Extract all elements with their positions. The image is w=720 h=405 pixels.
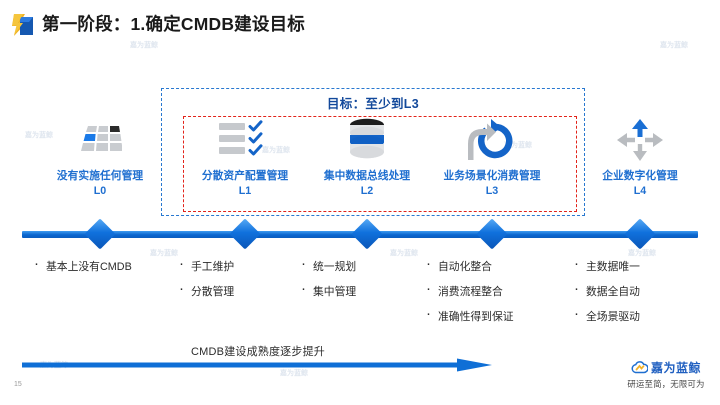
footer-logo: 嘉为蓝鲸 研运至简，无限可为 bbox=[614, 359, 718, 390]
slide-root: 嘉为蓝鲸 嘉为蓝鲸 嘉为蓝鲸 嘉为蓝鲸 嘉为蓝鲸 嘉为蓝鲸 嘉为蓝鲸 嘉为蓝鲸 … bbox=[0, 0, 720, 405]
timeline-marker-l1[interactable] bbox=[229, 218, 260, 249]
progression-arrow-icon bbox=[22, 358, 492, 372]
checklist-icon bbox=[185, 112, 305, 168]
stage-name: 企业数字化管理 bbox=[580, 168, 700, 183]
goal-label: 目标：至少到L3 bbox=[161, 93, 585, 112]
four-direction-arrows-icon bbox=[580, 112, 700, 168]
cloud-logo-icon bbox=[631, 361, 648, 374]
stage-name: 集中数据总线处理 bbox=[307, 168, 427, 183]
stage-name: 分散资产配置管理 bbox=[185, 168, 305, 183]
stage-name: 业务场景化消费管理 bbox=[432, 168, 552, 183]
list-item: 分散管理 bbox=[177, 283, 234, 299]
stage-level: L1 bbox=[185, 185, 305, 197]
bullet-list-l2: 统一规划 集中管理 bbox=[299, 258, 356, 308]
stage-level: L4 bbox=[580, 185, 700, 197]
list-item: 自动化整合 bbox=[424, 258, 514, 274]
bullet-list-l4: 主数据唯一 数据全自动 全场景驱动 bbox=[572, 258, 640, 333]
list-item: 消费流程整合 bbox=[424, 283, 514, 299]
page-number: 15 bbox=[14, 381, 22, 388]
list-item: 集中管理 bbox=[299, 283, 356, 299]
list-item: 手工维护 bbox=[177, 258, 234, 274]
stage-level: L3 bbox=[432, 185, 552, 197]
stage-l0[interactable]: 没有实施任何管理 L0 bbox=[40, 112, 160, 197]
timeline-marker-l0[interactable] bbox=[84, 218, 115, 249]
grid-squares-icon bbox=[40, 112, 160, 168]
list-item: 主数据唯一 bbox=[572, 258, 640, 274]
stage-l3[interactable]: 业务场景化消费管理 L3 bbox=[432, 112, 552, 197]
stage-l1[interactable]: 分散资产配置管理 L1 bbox=[185, 112, 305, 197]
stage-level: L0 bbox=[40, 185, 160, 197]
timeline-marker-l4[interactable] bbox=[624, 218, 655, 249]
logo-text: 嘉为蓝鲸 bbox=[651, 359, 701, 376]
watermark: 嘉为蓝鲸 bbox=[628, 248, 656, 258]
bullet-list-l3: 自动化整合 消费流程整合 准确性得到保证 bbox=[424, 258, 514, 333]
stage-name: 没有实施任何管理 bbox=[40, 168, 160, 183]
circular-arrow-up-icon bbox=[432, 112, 552, 168]
list-item: 统一规划 bbox=[299, 258, 356, 274]
watermark: 嘉为蓝鲸 bbox=[390, 248, 418, 258]
database-cylinder-icon bbox=[307, 112, 427, 168]
list-item: 数据全自动 bbox=[572, 283, 640, 299]
logo-tagline: 研运至简，无限可为 bbox=[614, 378, 718, 390]
lightning-bolt-logo-icon bbox=[12, 13, 34, 37]
timeline-marker-l3[interactable] bbox=[476, 218, 507, 249]
watermark: 嘉为蓝鲸 bbox=[150, 248, 178, 258]
list-item: 准确性得到保证 bbox=[424, 308, 514, 324]
stage-l2[interactable]: 集中数据总线处理 L2 bbox=[307, 112, 427, 197]
progression-label: CMDB建设成熟度逐步提升 bbox=[191, 343, 325, 359]
stage-level: L2 bbox=[307, 185, 427, 197]
stage-l4[interactable]: 企业数字化管理 L4 bbox=[580, 112, 700, 197]
page-title: 第一阶段：1.确定CMDB建设目标 bbox=[42, 11, 305, 36]
bullet-list-l1: 手工维护 分散管理 bbox=[177, 258, 234, 308]
list-item: 基本上没有CMDB bbox=[32, 258, 132, 274]
timeline-marker-l2[interactable] bbox=[351, 218, 382, 249]
list-item: 全场景驱动 bbox=[572, 308, 640, 324]
slide-header: 第一阶段：1.确定CMDB建设目标 bbox=[0, 0, 720, 48]
bullet-list-l0: 基本上没有CMDB bbox=[32, 258, 132, 283]
